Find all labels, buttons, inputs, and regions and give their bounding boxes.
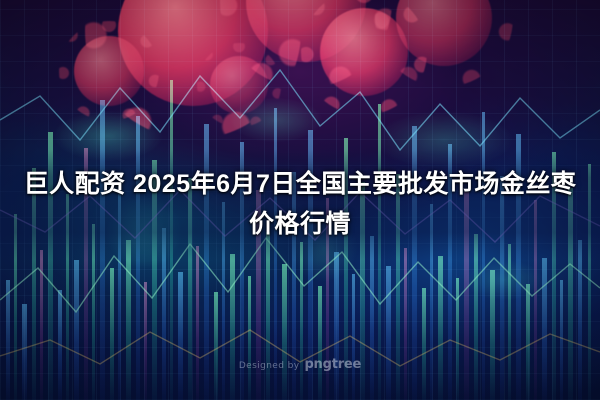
watermark-brand: pngtree bbox=[304, 357, 361, 372]
promo-image: 巨人配资 2025年6月7日全国主要批发市场金丝枣价格行情 Designed b… bbox=[0, 0, 600, 400]
headline-text: 巨人配资 2025年6月7日全国主要批发市场金丝枣价格行情 bbox=[22, 164, 578, 244]
watermark-prefix: Designed by bbox=[239, 361, 300, 371]
watermark: Designed by pngtree bbox=[239, 357, 361, 372]
